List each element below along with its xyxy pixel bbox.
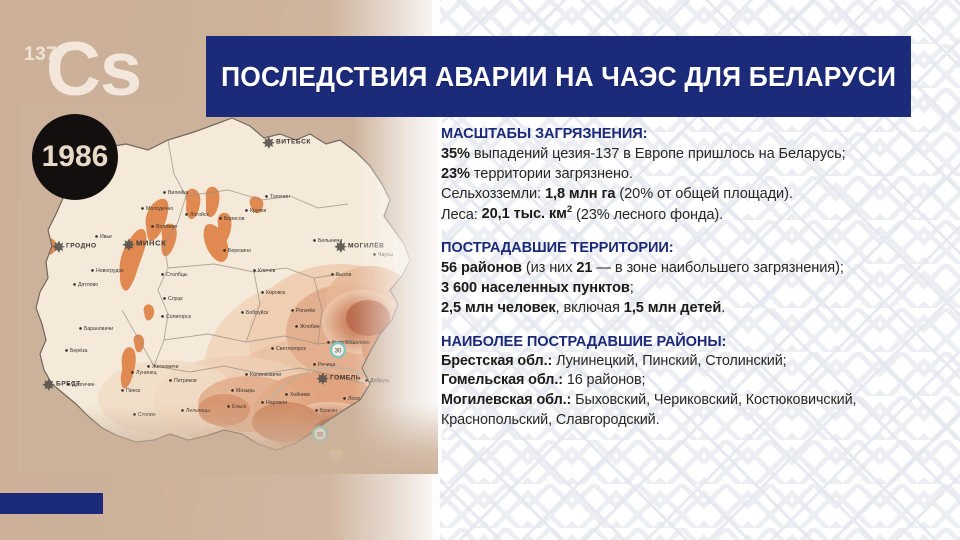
map-city-dot [315, 409, 318, 412]
map-city-dot [313, 239, 316, 242]
map-region-label: МОГИЛЁВ [348, 242, 384, 250]
map-city-label: Логойск [190, 211, 209, 218]
text-line: 3 600 населенных пунктов; [441, 279, 941, 299]
text-line: Сельхозземли: 1,8 млн га (20% от общей п… [441, 185, 941, 205]
map-zone-marker-label: 30 [335, 348, 342, 354]
text-line: Брестская обл.: Лунинецкий, Пинский, Сто… [441, 352, 941, 372]
block-districts: НАИБОЛЕЕ ПОСТРАДАВШИЕ РАЙОНЫ: Брестская … [441, 334, 941, 430]
map-city-label: Вилейка [168, 189, 189, 196]
map-city-label: Березино [228, 248, 251, 254]
map-city-label: Наровля [266, 400, 287, 406]
map-city-label: Барановичи [84, 326, 113, 332]
text-line: 35% выпадений цезия-137 в Европе пришлос… [441, 145, 941, 165]
map-city-dot [219, 217, 222, 220]
map-city-label: Столбцы [166, 272, 188, 278]
map-city-dot [253, 269, 256, 272]
map-city-dot [327, 341, 330, 344]
map-city-label: Слуцк [168, 296, 183, 302]
text-line: 2,5 млн человек, включая 1,5 млн детей. [441, 299, 941, 319]
cs137-emblem: 137 Cs 1986 [12, 38, 132, 198]
slide-title-bar: ПОСЛЕДСТВИЯ АВАРИИ НА ЧАЭС ДЛЯ БЕЛАРУСИ [206, 36, 911, 117]
map-city-label: Крупки [250, 208, 267, 214]
map-city-label: Быхов [336, 272, 352, 278]
map-city-dot [163, 191, 166, 194]
text-line: 56 районов (из них 21 — в зоне наибольше… [441, 259, 941, 279]
block-heading: НАИБОЛЕЕ ПОСТРАДАВШИЕ РАЙОНЫ: [441, 334, 941, 350]
map-region-label: ГОМЕЛЬ [330, 375, 361, 382]
page-title: ПОСЛЕДСТВИЯ АВАРИИ НА ЧАЭС ДЛЯ БЕЛАРУСИ [221, 61, 896, 93]
map-city-dot [271, 347, 274, 350]
map-city-dot [295, 325, 298, 328]
map-city-label: Белыничи [318, 238, 342, 244]
map-city-dot [313, 363, 316, 366]
year-label: 1986 [42, 140, 109, 174]
block-territories: ПОСТРАДАВШИЕ ТЕРРИТОРИИ: 56 районов (из … [441, 240, 941, 319]
map-city-label: Брагин [320, 408, 337, 414]
map-city-label: Светлогорск [276, 346, 307, 352]
map-city-label: Столин [138, 412, 156, 418]
map-city-label: Чаусы [378, 252, 393, 258]
map-city-label: Пинск [126, 388, 141, 394]
map-city-dot [227, 405, 230, 408]
map-region-label: ГРОДНО [66, 243, 97, 250]
map-city-label: Молодечно [146, 206, 173, 212]
map-city-dot [373, 253, 376, 256]
map-city-label: Кировск [266, 290, 286, 296]
map-city-label: Ельск [232, 404, 247, 410]
map-city-label: Кличев [258, 268, 276, 274]
map-city-label: Рогачёв [296, 308, 315, 314]
map-city-dot [141, 207, 144, 210]
map-city-dot [73, 283, 76, 286]
map-city-label: Бобруйск [246, 309, 269, 316]
map-city-label: Мозырь [236, 388, 255, 394]
text-line: Краснопольский, Славгородский. [441, 411, 941, 431]
text-line: Леса: 20,1 тыс. км2 (23% лесного фонда). [441, 205, 941, 226]
map-city-dot [291, 309, 294, 312]
map-city-dot [245, 209, 248, 212]
map-city-dot [265, 195, 268, 198]
map-city-label: Лоев [348, 396, 360, 402]
cs-symbol: Cs [46, 32, 141, 108]
map-city-dot [163, 297, 166, 300]
block-heading: ПОСТРАДАВШИЕ ТЕРРИТОРИИ: [441, 240, 941, 256]
block-heading: МАСШТАБЫ ЗАГРЯЗНЕНИЯ: [441, 126, 941, 142]
footer-accent-bar [0, 493, 103, 514]
map-city-dot [261, 291, 264, 294]
map-region-label: МИНСК [136, 239, 166, 248]
text-line: 23% территории загрязнено. [441, 165, 941, 185]
map-city-label: Петриков [174, 378, 197, 384]
map-city-label: Берёза [70, 348, 87, 354]
block-lines: 56 районов (из них 21 — в зоне наибольше… [441, 259, 941, 319]
slide-root: ВилейкаМолодечноВоложинИвьеНовогрудокДят… [0, 0, 960, 540]
map-city-dot [261, 401, 264, 404]
map-city-dot [241, 311, 244, 314]
map-city-label: Солигорск [166, 314, 192, 320]
map-city-dot [95, 235, 98, 238]
map-city-dot [79, 327, 82, 330]
map-city-label: Новогрудок [96, 268, 124, 274]
map-city-dot [121, 389, 124, 392]
content-column: МАСШТАБЫ ЗАГРЯЗНЕНИЯ: 35% выпадений цези… [441, 126, 941, 445]
map-city-dot [223, 249, 226, 252]
map-city-dot [91, 269, 94, 272]
map-city-label: Лельчицы [186, 408, 210, 414]
map-city-dot [285, 393, 288, 396]
map-city-label: Борисов [224, 216, 245, 222]
map-city-dot [133, 413, 136, 416]
map-city-label: Ивье [100, 234, 112, 240]
map-zone-marker-label: 30 [317, 432, 324, 438]
map-city-dot [185, 213, 188, 216]
map-city-label: Речица [318, 362, 336, 368]
map-city-dot [161, 315, 164, 318]
map-region-label: ВИТЕБСК [276, 139, 311, 146]
map-city-dot [147, 365, 150, 368]
map-city-dot [245, 373, 248, 376]
map-city-dot [181, 409, 184, 412]
map-city-dot [65, 349, 68, 352]
map-city-dot [343, 397, 346, 400]
map-city-label: Жлобин [300, 324, 320, 330]
map-city-dot [231, 389, 234, 392]
text-line: Гомельская обл.: 16 районов; [441, 371, 941, 391]
map-city-label: Воложин [156, 224, 178, 230]
block-scale: МАСШТАБЫ ЗАГРЯЗНЕНИЯ: 35% выпадений цези… [441, 126, 941, 225]
map-city-dot [131, 371, 134, 374]
map-city-dot [151, 225, 154, 228]
text-line: Могилевская обл.: Быховский, Чериковский… [441, 391, 941, 411]
map-city-label: Лунинец [136, 370, 157, 376]
year-circle: 1986 [32, 114, 118, 200]
map-city-dot [365, 379, 368, 382]
map-region-label: БРЕСТ [56, 381, 81, 388]
map-city-label: Толочин [270, 194, 290, 200]
map-city-label: Добруш [370, 378, 389, 384]
block-lines: 35% выпадений цезия-137 в Европе пришлос… [441, 145, 941, 225]
map-city-dot [161, 273, 164, 276]
map-city-label: Дятлово [78, 282, 98, 288]
map-zone-marker [329, 449, 343, 463]
map-city-label: Хойники [290, 391, 310, 398]
map-city-dot [331, 273, 334, 276]
map-city-label: Калинковичи [250, 372, 281, 378]
block-lines: Брестская обл.: Лунинецкий, Пинский, Сто… [441, 352, 941, 430]
map-city-dot [169, 379, 172, 382]
